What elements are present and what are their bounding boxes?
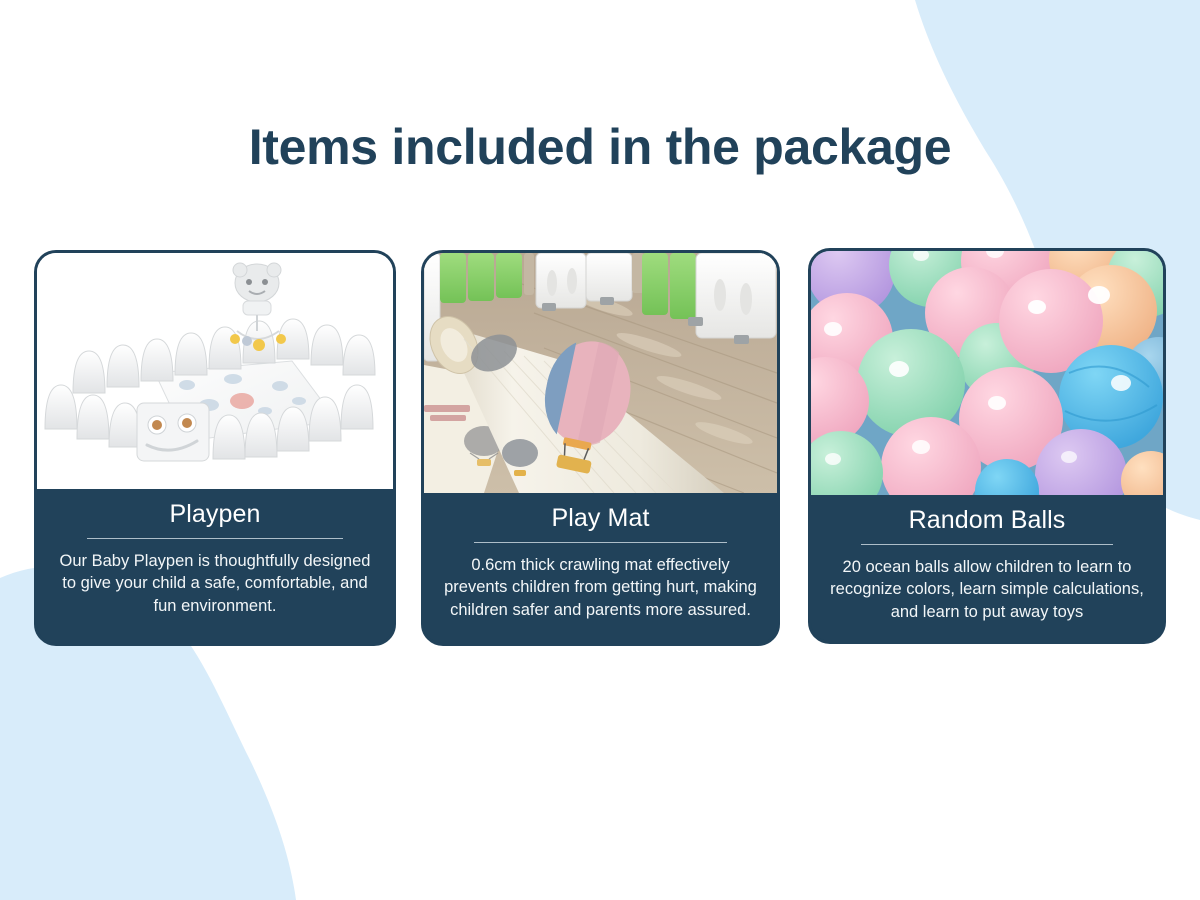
card-description: Our Baby Playpen is thoughtfully designe…: [51, 550, 379, 618]
page-title: Items included in the package: [0, 118, 1200, 176]
card-divider: [861, 544, 1114, 545]
poster-canvas: Items included in the package: [0, 0, 1200, 900]
play-mat-card-body: Play Mat 0.6cm thick crawling mat effect…: [424, 493, 777, 643]
card-divider: [87, 538, 343, 539]
random-balls-card-body: Random Balls 20 ocean balls allow childr…: [811, 495, 1163, 641]
card-title: Play Mat: [438, 505, 763, 533]
play-mat-photo: [424, 253, 777, 493]
playpen-card-body: Playpen Our Baby Playpen is thoughtfully…: [37, 489, 393, 643]
card-title: Playpen: [51, 501, 379, 529]
product-card-random-balls[interactable]: Random Balls 20 ocean balls allow childr…: [808, 248, 1166, 644]
card-description: 20 ocean balls allow children to learn t…: [825, 556, 1149, 624]
random-balls-photo: [811, 251, 1163, 495]
playpen-photo: [37, 253, 393, 489]
product-card-playpen[interactable]: Playpen Our Baby Playpen is thoughtfully…: [34, 250, 396, 646]
card-divider: [474, 542, 728, 543]
card-title: Random Balls: [825, 507, 1149, 535]
card-description: 0.6cm thick crawling mat effectively pre…: [438, 554, 763, 622]
product-card-play-mat[interactable]: Play Mat 0.6cm thick crawling mat effect…: [421, 250, 780, 646]
